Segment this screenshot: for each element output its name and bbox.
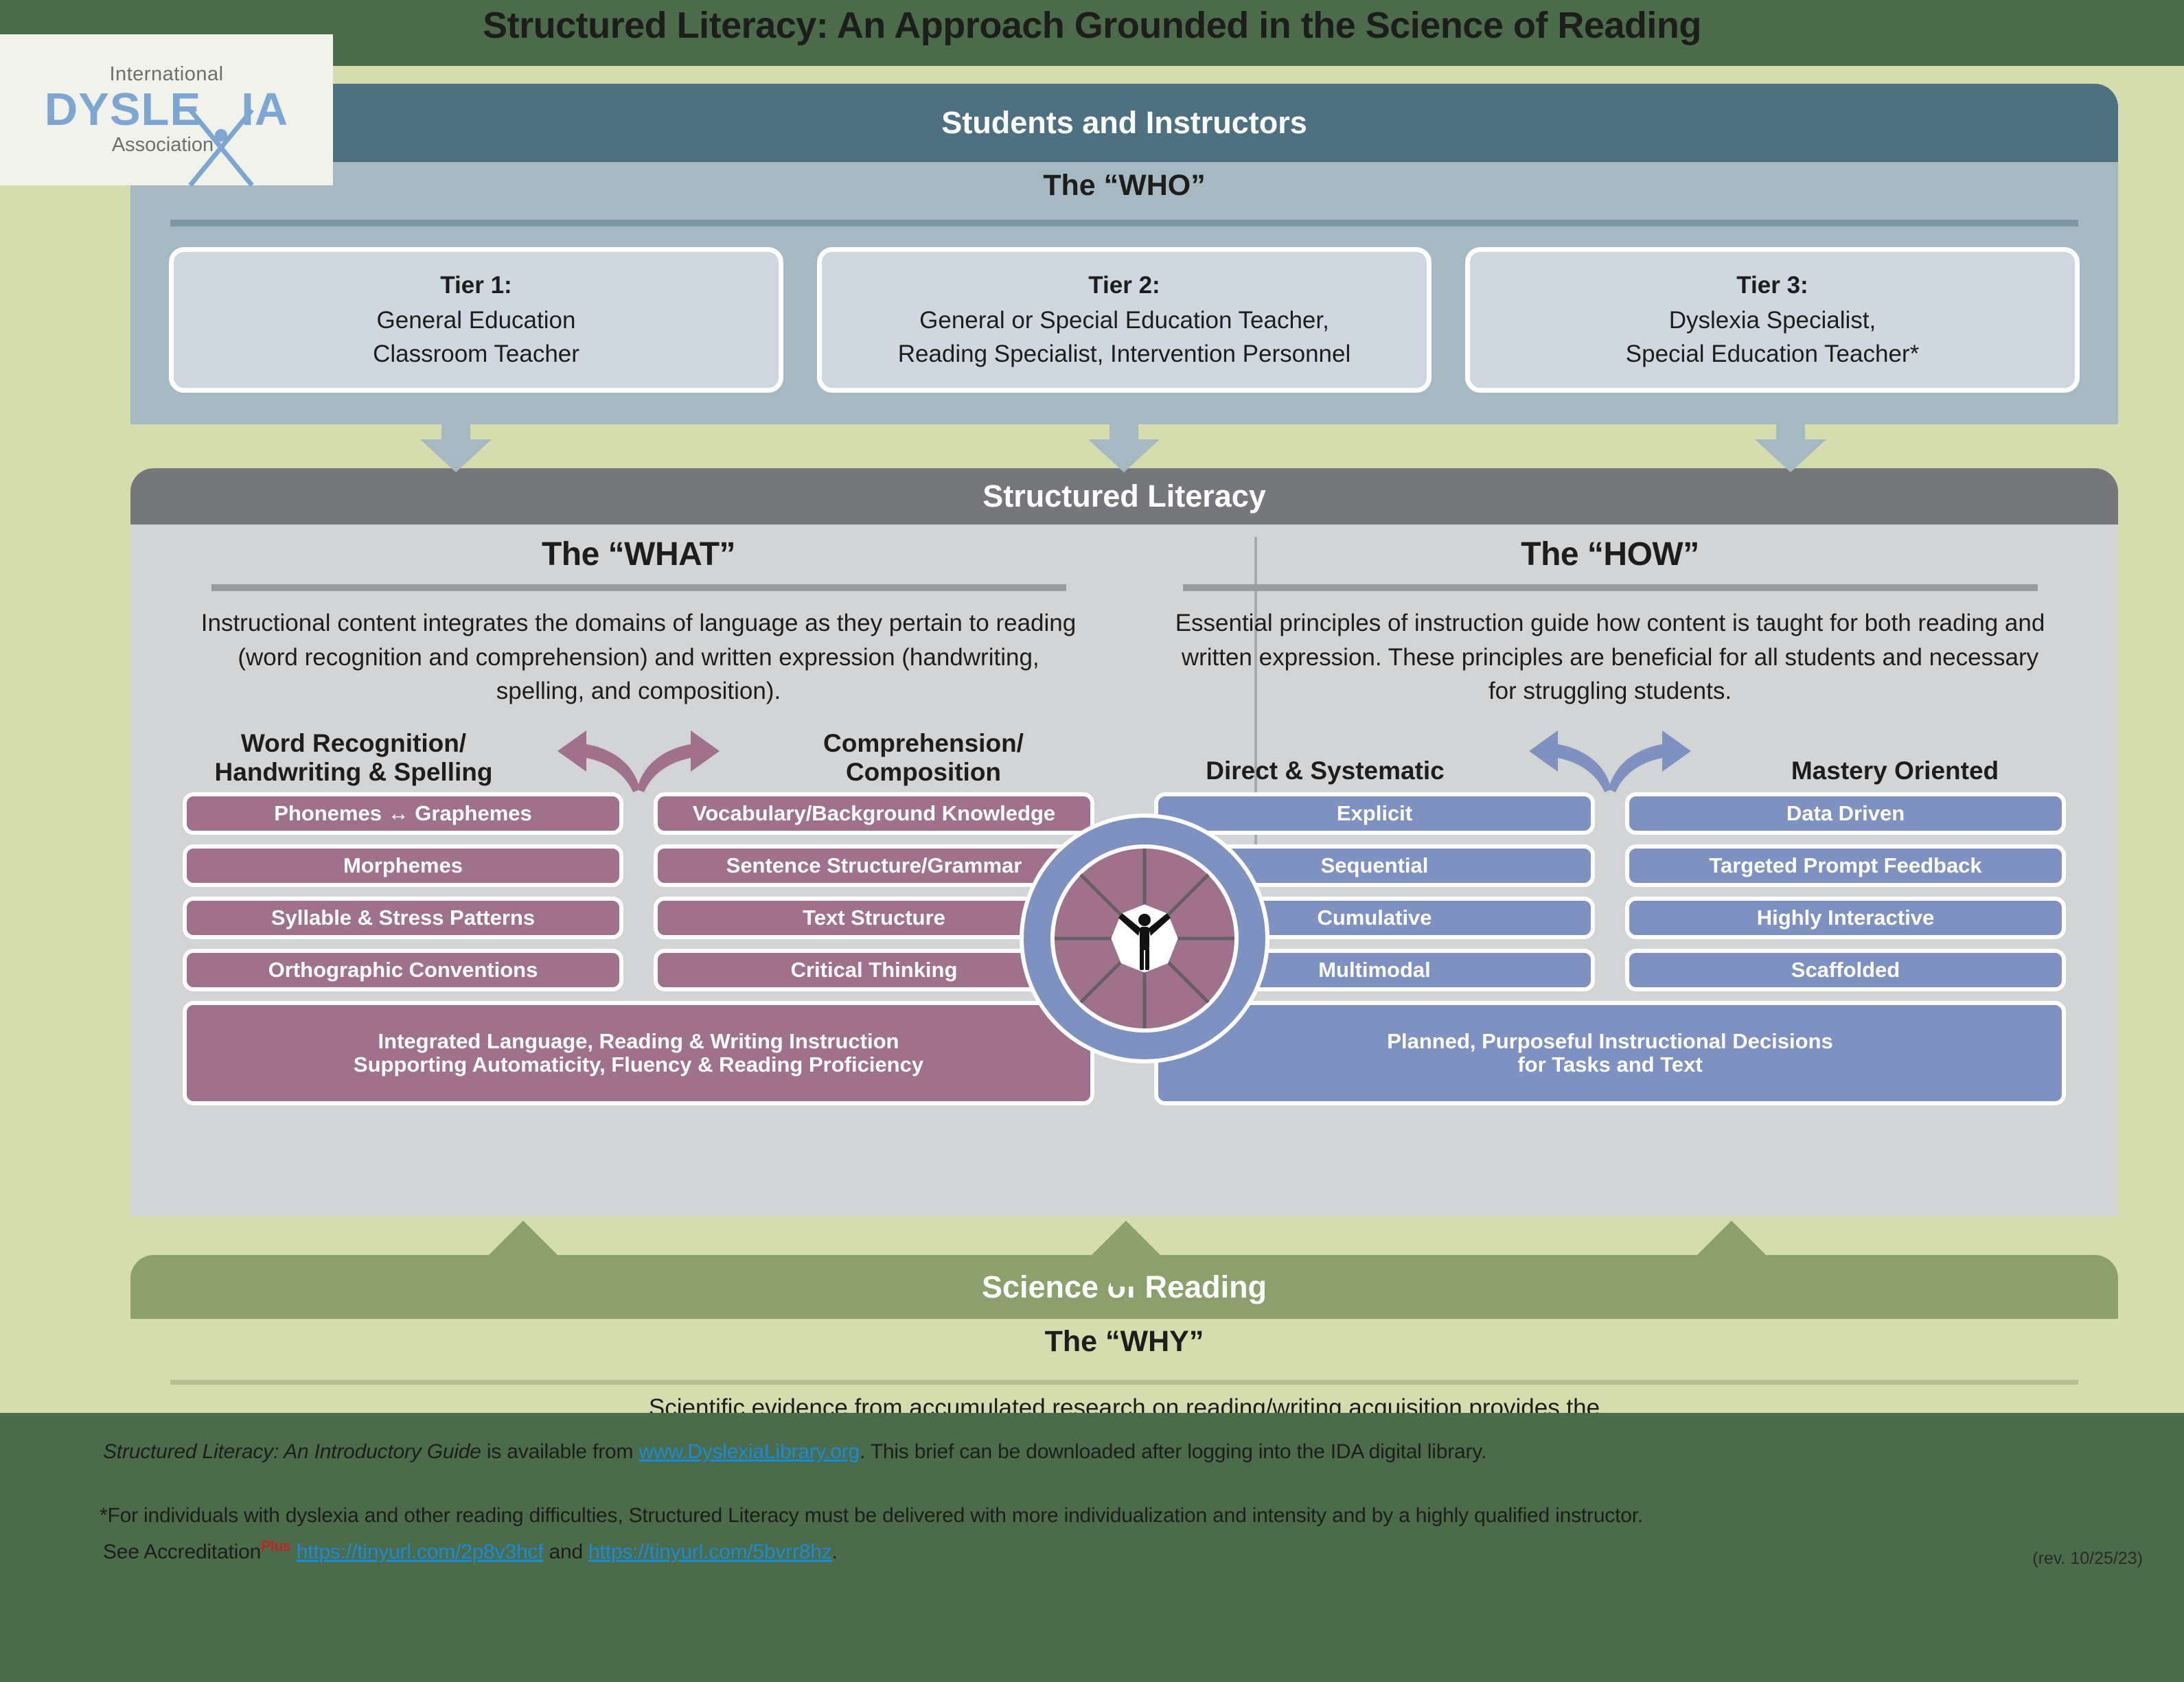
footer-accreditation-text: See Accreditation bbox=[103, 1541, 261, 1563]
how-pill-right-2[interactable]: Targeted Prompt Feedback bbox=[1625, 844, 2066, 887]
what-subhead-right-line1: Comprehension/ bbox=[755, 729, 1092, 757]
tier-1-line2: Classroom Teacher bbox=[373, 338, 579, 371]
tier-2-label: Tier 2: bbox=[1088, 269, 1160, 302]
what-subhead-right-line2: Composition bbox=[755, 758, 1092, 786]
tier-3-line2: Special Education Teacher* bbox=[1626, 338, 1919, 371]
how-subhead-left-line1: Direct & Systematic bbox=[1157, 757, 1493, 785]
who-divider-rule bbox=[170, 220, 2078, 227]
how-pill-right-3[interactable]: Highly Interactive bbox=[1625, 897, 2066, 939]
how-subhead-left: Direct & Systematic bbox=[1157, 757, 1493, 785]
tier-1-box[interactable]: Tier 1: General Education Classroom Teac… bbox=[169, 247, 783, 393]
logo-dyslexia-part1: DYSLE bbox=[45, 84, 201, 135]
footer-period: . bbox=[832, 1541, 838, 1563]
what-pill-grid: Phonemes ↔ Graphemes Vocabulary/Backgrou… bbox=[158, 792, 1119, 1105]
how-pill-wide-line1: Planned, Purposeful Instructional Decisi… bbox=[1387, 1030, 1832, 1053]
why-divider-rule bbox=[170, 1380, 2078, 1385]
what-pill-wide-line1: Integrated Language, Reading & Writing I… bbox=[354, 1030, 923, 1053]
tier-2-line1: General or Special Education Teacher, bbox=[919, 304, 1329, 337]
revision-date: (rev. 10/25/23) bbox=[2032, 1549, 2143, 1569]
ida-logo: International DYSLEIA Association® bbox=[0, 34, 333, 185]
how-subhead-row: Direct & Systematic Mastery Oriented bbox=[1129, 729, 2091, 788]
what-subhead-right: Comprehension/ Composition bbox=[755, 729, 1092, 786]
how-pill-wide-line2: for Tasks and Text bbox=[1387, 1053, 1832, 1076]
what-subhead-left: Word Recognition/ Handwriting & Spelling bbox=[185, 729, 522, 786]
how-rule bbox=[1183, 584, 2038, 591]
arrow-down-tier2-icon bbox=[1088, 417, 1160, 472]
how-pill-grid: Explicit Data Driven Sequential Targeted… bbox=[1129, 792, 2091, 1105]
logo-wordmark: DYSLEIA bbox=[45, 86, 288, 134]
how-pill-wide[interactable]: Planned, Purposeful Instructional Decisi… bbox=[1154, 1001, 2066, 1105]
footer-and-text: and bbox=[543, 1541, 588, 1563]
what-rule bbox=[211, 584, 1066, 591]
accreditation-link-1[interactable]: https://tinyurl.com/2p8v3hcf bbox=[297, 1541, 544, 1563]
tier-2-line2: Reading Specialist, Intervention Personn… bbox=[898, 338, 1351, 371]
who-section: Students and Instructors The “WHO” Tier … bbox=[130, 84, 2118, 424]
literacy-wheel-icon bbox=[1018, 811, 1272, 1065]
what-pill-left-3[interactable]: Syllable & Stress Patterns bbox=[183, 897, 623, 939]
how-subhead-right: Mastery Oriented bbox=[1727, 757, 2063, 785]
what-subhead-row: Word Recognition/ Handwriting & Spelling… bbox=[158, 729, 1119, 788]
what-subhead-left-line2: Handwriting & Spelling bbox=[185, 758, 522, 786]
page-footer: Structured Literacy: An Introductory Gui… bbox=[0, 1413, 2184, 1682]
what-body-text: Instructional content integrates the dom… bbox=[158, 606, 1119, 708]
who-header: Students and Instructors bbox=[130, 84, 2118, 162]
arrow-up-right-icon bbox=[1693, 1221, 1770, 1285]
how-title: The “HOW” bbox=[1129, 535, 2091, 573]
footer-guide-mid: is available from bbox=[481, 1440, 639, 1463]
tier-1-label: Tier 1: bbox=[440, 269, 511, 302]
what-pill-left-4[interactable]: Orthographic Conventions bbox=[183, 949, 623, 991]
what-subhead-left-line1: Word Recognition/ bbox=[185, 729, 522, 757]
tier-3-label: Tier 3: bbox=[1736, 269, 1808, 302]
arrow-down-tier1-icon bbox=[420, 417, 492, 472]
arrow-up-left-icon bbox=[485, 1221, 562, 1285]
tier-3-line1: Dyslexia Specialist, bbox=[1669, 304, 1876, 337]
how-pill-right-1[interactable]: Data Driven bbox=[1625, 792, 2066, 835]
logo-line-international: International bbox=[109, 63, 223, 86]
what-cross-arrows-icon bbox=[556, 721, 721, 796]
how-pill-right-4[interactable]: Scaffolded bbox=[1625, 949, 2066, 991]
tier-row: Tier 1: General Education Classroom Teac… bbox=[169, 247, 2080, 393]
how-body-text: Essential principles of instruction guid… bbox=[1129, 606, 2091, 708]
page-frame: Structured Literacy: An Approach Grounde… bbox=[0, 0, 2184, 1682]
footer-guide-line: Structured Literacy: An Introductory Gui… bbox=[103, 1440, 1486, 1464]
what-column: The “WHAT” Instructional content integra… bbox=[158, 535, 1119, 1105]
what-pill-left-2[interactable]: Morphemes bbox=[183, 844, 623, 887]
what-title: The “WHAT” bbox=[158, 535, 1119, 573]
accreditation-link-2[interactable]: https://tinyurl.com/5bvrr8hz bbox=[588, 1541, 832, 1563]
what-pill-wide[interactable]: Integrated Language, Reading & Writing I… bbox=[183, 1001, 1094, 1105]
tier-3-box[interactable]: Tier 3: Dyslexia Specialist, Special Edu… bbox=[1465, 247, 2080, 393]
accreditation-plus-superscript: Plus bbox=[261, 1539, 291, 1554]
why-subtitle: The “WHY” bbox=[130, 1321, 2118, 1359]
how-subhead-right-line1: Mastery Oriented bbox=[1727, 757, 2063, 785]
tier-2-box[interactable]: Tier 2: General or Special Education Tea… bbox=[817, 247, 1432, 393]
tier-1-line1: General Education bbox=[377, 304, 576, 337]
footer-accreditation-line: See AccreditationPlus https://tinyurl.co… bbox=[103, 1539, 838, 1564]
arrow-down-tier3-icon bbox=[1755, 417, 1826, 472]
arrow-up-center-icon bbox=[1088, 1221, 1164, 1285]
dyslexia-library-link[interactable]: www.DyslexiaLibrary.org bbox=[639, 1440, 860, 1463]
footer-asterisk-note: *For individuals with dyslexia and other… bbox=[100, 1504, 1643, 1528]
what-pill-wide-line2: Supporting Automaticity, Fluency & Readi… bbox=[354, 1053, 923, 1076]
how-cross-arrows-icon bbox=[1528, 721, 1692, 796]
footer-guide-title: Structured Literacy: An Introductory Gui… bbox=[103, 1440, 481, 1463]
structured-literacy-header: Structured Literacy bbox=[130, 468, 2118, 525]
how-column: The “HOW” Essential principles of instru… bbox=[1129, 535, 2091, 1105]
what-pill-left-1[interactable]: Phonemes ↔ Graphemes bbox=[183, 792, 623, 835]
footer-guide-end: . This brief can be downloaded after log… bbox=[860, 1440, 1486, 1463]
who-subtitle: The “WHO” bbox=[130, 162, 2118, 203]
